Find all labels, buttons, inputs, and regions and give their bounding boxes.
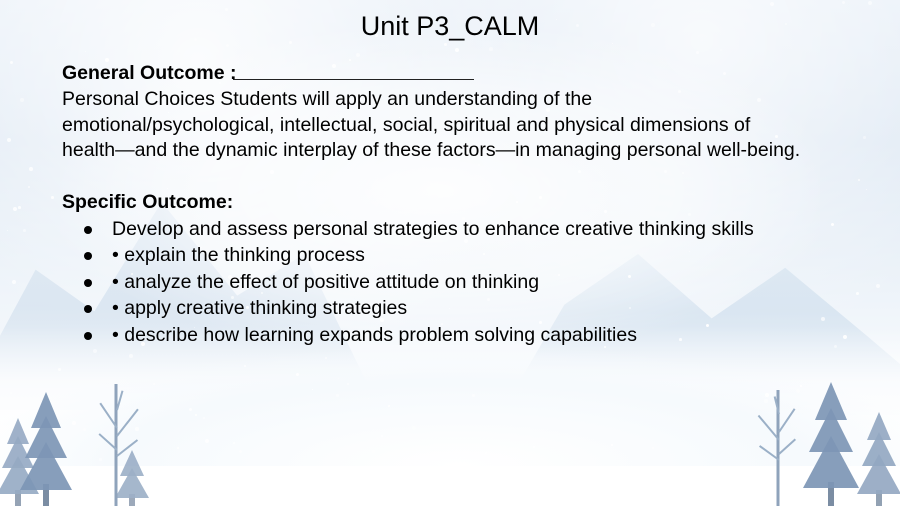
bullet-dot-icon xyxy=(84,279,92,287)
slide: Unit P3_CALM General Outcome : Personal … xyxy=(0,0,900,506)
general-outcome-heading: General Outcome : xyxy=(62,60,852,86)
bullet-dot-icon xyxy=(84,226,92,234)
page-title: Unit P3_CALM xyxy=(0,9,900,43)
bullet-dot-icon xyxy=(84,252,92,260)
specific-outcome-heading-row: Specific Outcome: xyxy=(62,189,852,215)
list-item: • analyze the effect of positive attitud… xyxy=(62,270,852,296)
general-outcome-text: Personal Choices Students will apply an … xyxy=(62,87,802,164)
heading-underline-rule xyxy=(233,79,474,80)
bullet-dot-icon xyxy=(84,332,92,340)
specific-outcome-list: Develop and assess personal strategies t… xyxy=(62,217,852,349)
list-item-label: • apply creative thinking strategies xyxy=(112,297,407,319)
list-item: • describe how learning expands problem … xyxy=(62,323,852,349)
list-item: • explain the thinking process xyxy=(62,243,852,269)
list-item-label: • analyze the effect of positive attitud… xyxy=(112,271,539,293)
list-item: • apply creative thinking strategies xyxy=(62,296,852,322)
slide-content: Unit P3_CALM General Outcome : Personal … xyxy=(0,0,900,506)
bullet-dot-icon xyxy=(84,305,92,313)
slide-body: General Outcome : Personal Choices Stude… xyxy=(62,60,852,349)
list-item-label: • describe how learning expands problem … xyxy=(112,324,637,346)
list-item: Develop and assess personal strategies t… xyxy=(62,217,852,243)
list-item-label: • explain the thinking process xyxy=(112,244,365,266)
list-item-label: Develop and assess personal strategies t… xyxy=(112,218,754,240)
specific-outcome-heading: Specific Outcome: xyxy=(62,189,233,215)
paragraph-spacer xyxy=(62,164,852,189)
